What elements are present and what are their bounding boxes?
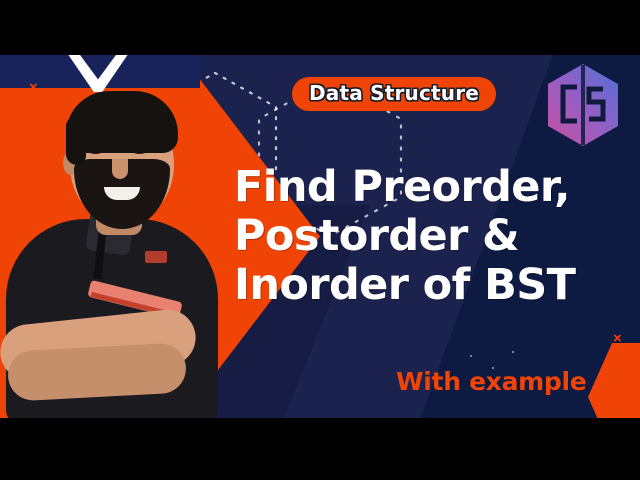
cs-hexagon-logo — [543, 61, 623, 149]
thumbnail-content-band: × × — [0, 55, 640, 418]
presenter-arm-lower — [7, 342, 187, 401]
badge-label: Data Structure — [309, 81, 479, 105]
subline-with-example: With example — [396, 367, 586, 396]
letterbox-bottom — [0, 418, 640, 480]
data-structure-badge: Data Structure — [292, 77, 496, 111]
headline-line-2: Postorder & — [234, 212, 634, 261]
speckle-dot — [512, 351, 514, 353]
speckle-dot — [470, 355, 472, 357]
presenter-nose — [112, 159, 128, 179]
letterbox-top — [0, 0, 640, 55]
headline-line-3: Inorder of BST — [234, 261, 634, 310]
presenter-shirt-logo — [145, 251, 167, 263]
presenter-hair-side — [66, 117, 86, 165]
video-thumbnail: × × — [0, 0, 640, 480]
presenter-photo — [0, 55, 250, 418]
headline: Find Preorder, Postorder & Inorder of BS… — [234, 163, 634, 310]
headline-line-1: Find Preorder, — [234, 163, 634, 212]
